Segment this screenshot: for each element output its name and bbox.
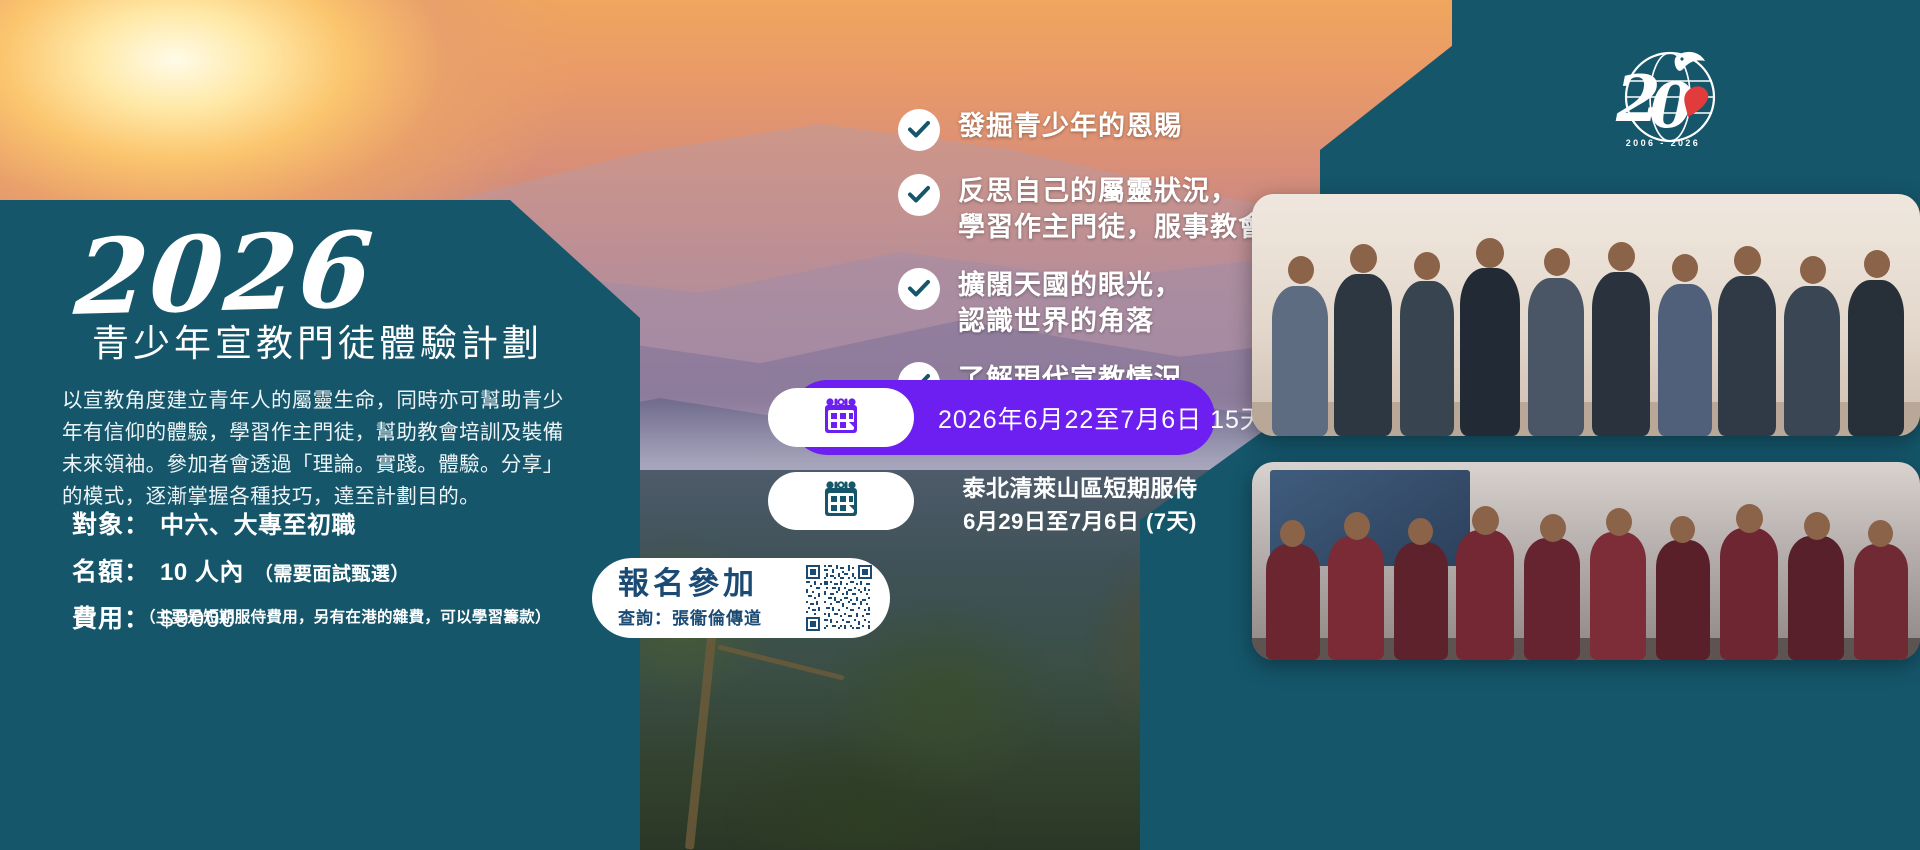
register-contact: 查詢：張衞倫傳道 <box>618 604 806 629</box>
photo-person-head <box>1544 248 1570 276</box>
checklist-line: 學習作主門徒，服事教會 <box>958 212 1266 242</box>
photo-person-head <box>1606 508 1632 536</box>
photo-person <box>1784 286 1840 436</box>
service-trip-dates: 6月29日至7月6日 (7天) <box>930 505 1230 538</box>
photo-person <box>1656 540 1710 660</box>
checklist-line: 擴闊天國的眼光， <box>958 270 1182 300</box>
photo-person-head <box>1280 520 1305 547</box>
register-texts: 報名參加 查詢：張衞倫傳道 <box>618 567 806 629</box>
photo-person-head <box>1670 516 1695 543</box>
photo-person <box>1658 284 1712 436</box>
checklist-line: 認識世界的角落 <box>958 306 1154 336</box>
photo-person <box>1848 280 1904 436</box>
program-date-text: 2026年6月22至7月6日 15天 <box>938 400 1266 436</box>
photo-person-head <box>1408 518 1433 545</box>
photo-person <box>1718 276 1776 436</box>
program-subtitle: 青少年宣教門徒體驗計劃 <box>92 313 543 367</box>
left-content-column: 2026 青少年宣教門徒體驗計劃 以宣教角度建立青年人的屬靈生命，同時亦可幫助青… <box>0 200 640 850</box>
check-circle-icon <box>898 268 940 310</box>
photo-person <box>1590 532 1646 660</box>
photo-person-head <box>1804 512 1830 540</box>
photo-person <box>1400 281 1454 436</box>
photo-person <box>1456 530 1514 660</box>
photo-person <box>1394 542 1448 660</box>
photo-person-head <box>1864 250 1890 278</box>
photo-person-head <box>1736 504 1763 533</box>
register-title: 報名參加 <box>618 567 806 601</box>
qr-code-icon[interactable] <box>806 565 872 631</box>
anniversary-years: 2006 - 2026 <box>1598 138 1728 148</box>
poster-canvas: 2026 青少年宣教門徒體驗計劃 以宣教角度建立青年人的屬靈生命，同時亦可幫助青… <box>0 0 1920 850</box>
photo-person <box>1592 272 1650 436</box>
photo-person-head <box>1734 246 1761 275</box>
info-value-target: 中六、大專至初職 <box>160 505 356 540</box>
photo-person <box>1524 538 1580 660</box>
info-row-target: 對象： 中六、大專至初職 <box>72 505 592 541</box>
info-label-quota: 名額： <box>72 552 150 588</box>
photo-person-head <box>1414 252 1440 280</box>
checklist-item-label: 擴闊天國的眼光， 認識世界的角落 <box>958 267 1182 339</box>
check-circle-icon <box>898 174 940 216</box>
group-photo-team-maroon-shirts <box>1252 462 1920 660</box>
photo-person <box>1272 286 1328 436</box>
info-note-quota: （需要面試甄選） <box>254 559 410 586</box>
photo-person-head <box>1350 244 1377 273</box>
photo-person-head <box>1344 512 1370 540</box>
group-photo-team-black-shirts <box>1252 194 1920 436</box>
photo-person <box>1334 274 1392 436</box>
program-date-badge: 2026年6月22至7月6日 15天 <box>790 380 1215 455</box>
info-row-quota: 名額： 10 人內 （需要面試甄選） <box>72 552 592 588</box>
photo-person-head <box>1800 256 1826 284</box>
info-label-fee: 費用： <box>72 599 150 635</box>
checklist-item-label: 發掘青少年的恩賜 <box>958 108 1182 144</box>
register-card[interactable]: 報名參加 查詢：張衞倫傳道 <box>592 558 890 638</box>
service-trip-info: 泰北清萊山區短期服侍 6月29日至7月6日 (7天) <box>930 472 1230 538</box>
photo-person <box>1854 544 1908 660</box>
info-value-quota: 10 人內 <box>160 552 244 587</box>
photo-person <box>1788 536 1844 660</box>
program-description: 以宣教角度建立青年人的屬靈生命，同時亦可幫助青少年有信仰的體驗，學習作主門徒，幫… <box>62 385 567 513</box>
photo-person-head <box>1608 242 1635 271</box>
calendar-icon <box>768 388 914 447</box>
photo-person-head <box>1476 238 1504 268</box>
photo-person-head <box>1868 520 1893 547</box>
info-label-target: 對象： <box>72 505 150 541</box>
check-circle-icon <box>898 109 940 151</box>
photo-person-head <box>1288 256 1314 284</box>
photo-person <box>1460 268 1520 436</box>
photo-person-head <box>1472 506 1499 535</box>
photo-person <box>1720 528 1778 660</box>
checklist-line: 反思自己的屬靈狀況， <box>958 176 1238 206</box>
photo-person-head <box>1540 514 1566 542</box>
photo-person <box>1266 544 1320 660</box>
fee-fineprint: （主要是短期服侍費用，另有在港的雜費，可以學習籌款） <box>140 605 610 627</box>
photo-person <box>1328 536 1384 660</box>
photo-person-head <box>1672 254 1698 282</box>
calendar-icon-secondary <box>768 472 914 530</box>
checklist-item-label: 反思自己的屬靈狀況， 學習作主門徒，服事教會 <box>958 173 1266 245</box>
photo-person <box>1528 278 1584 436</box>
checklist-item: 發掘青少年的恩賜 <box>898 108 1328 151</box>
service-trip-title: 泰北清萊山區短期服侍 <box>930 472 1230 505</box>
